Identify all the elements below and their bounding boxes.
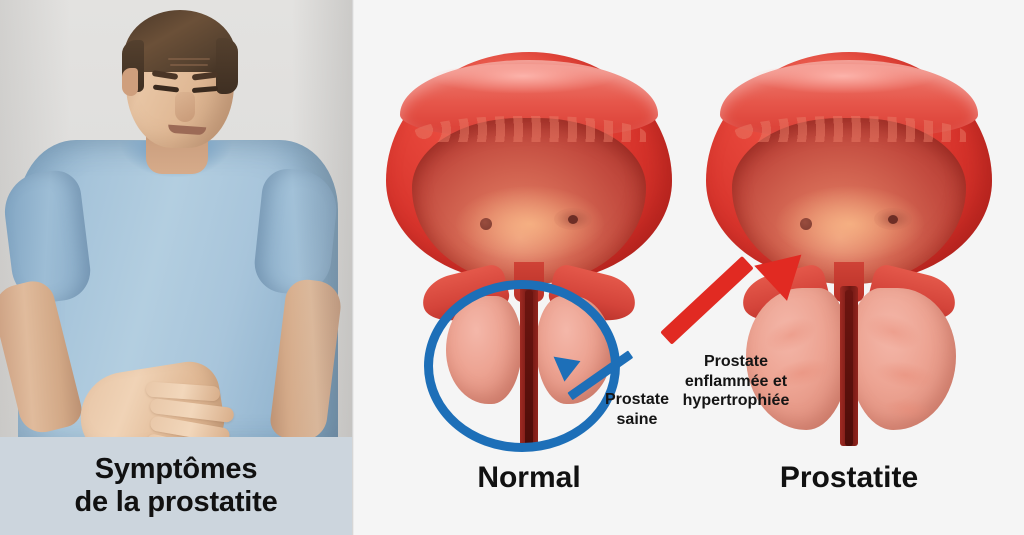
annotation-line-1: Prostate [638, 352, 834, 372]
figure-normal-prostate: Prostate saine Normal [364, 0, 694, 535]
figure-prostatitis: Prostate enflammée et hypertrophiée Pros… [684, 0, 1014, 535]
forehead-wrinkle [168, 58, 210, 60]
patient-photo-panel: Symptômes de la prostatite [0, 0, 352, 535]
title-band: Symptômes de la prostatite [0, 437, 352, 535]
annotation-line-3: hypertrophiée [638, 391, 834, 411]
title-line-1: Symptômes [74, 453, 277, 486]
anatomy-diagram-panel: Prostate saine Normal [354, 0, 1024, 535]
patient-hair-side-right [216, 38, 238, 94]
urethra-lumen [845, 290, 853, 446]
ureteral-orifice-left-icon [480, 218, 492, 230]
patient-nose [175, 92, 195, 122]
annotation-inflamed-prostate: Prostate enflammée et hypertrophiée [638, 352, 834, 411]
ureteral-orifice-right-icon [874, 208, 912, 230]
figure-caption-normal: Normal [364, 461, 694, 495]
annotation-line-2: saine [572, 410, 702, 430]
page-title: Symptômes de la prostatite [74, 453, 277, 519]
ureteral-orifice-right-icon [554, 208, 592, 230]
forehead-wrinkle [170, 64, 208, 66]
bladder-rim-highlight [428, 64, 618, 94]
bladder-mucosa-folds [732, 116, 966, 142]
bladder-rim-highlight [748, 64, 938, 94]
bladder-mucosa-folds [412, 116, 646, 142]
figure-caption-prostatitis: Prostatite [684, 461, 1014, 495]
ureteral-orifice-left-icon [800, 218, 812, 230]
title-line-2: de la prostatite [74, 486, 277, 519]
patient-ear-left [122, 68, 138, 96]
annotation-line-2: enflammée et [638, 372, 834, 392]
infographic-canvas: Symptômes de la prostatite [0, 0, 1024, 535]
